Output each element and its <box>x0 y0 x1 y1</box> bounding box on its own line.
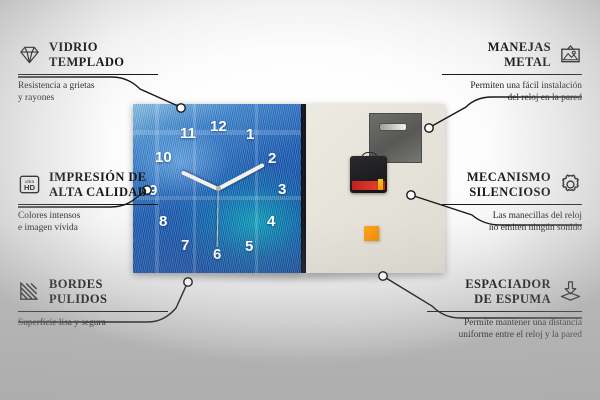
clock-hands-pin <box>216 186 221 191</box>
callout-header: BORDES PULIDOS <box>18 277 168 307</box>
callout-foam-spacer[interactable]: ESPACIADOR DE ESPUMA Permite mantener un… <box>427 277 582 341</box>
clock-back-panel <box>306 104 445 273</box>
clock-numeral: 2 <box>268 151 276 166</box>
hanger-slot <box>379 123 407 131</box>
callout-description: Permite mantener una distancia uniforme … <box>427 317 582 341</box>
clock-numeral: 10 <box>155 150 172 165</box>
callout-rule <box>18 311 168 313</box>
callout-description: Colores intensos e imagen vívida <box>18 210 158 234</box>
callout-header: VIDRIO TEMPLADO <box>18 40 158 70</box>
silent-clock-movement <box>350 156 387 193</box>
diamond-icon <box>18 43 41 66</box>
callout-header: MECANISMO SILENCIOSO <box>442 170 582 200</box>
callout-rule <box>442 204 582 206</box>
ultra-hd-icon: ultra HD <box>18 173 41 196</box>
callout-hd-print[interactable]: ultra HD IMPRESIÓN DE ALTA CALIDAD Color… <box>18 170 158 234</box>
press-down-layer-icon <box>559 280 582 303</box>
clock-numeral: 5 <box>245 239 253 254</box>
art-gridline <box>255 104 258 273</box>
callout-rule <box>18 74 158 76</box>
callout-rule <box>442 74 582 76</box>
callout-description: Resistencia a grietas y rayones <box>18 80 158 104</box>
movement-hook <box>361 152 378 160</box>
callout-header: ESPACIADOR DE ESPUMA <box>427 277 582 307</box>
picture-frame-hook-icon <box>559 43 582 66</box>
clock-numeral: 1 <box>246 127 254 142</box>
callout-title: VIDRIO TEMPLADO <box>49 40 124 70</box>
clock-numeral: 12 <box>210 119 227 134</box>
callout-rule <box>18 204 158 206</box>
product-image: 12 1 2 3 4 5 6 7 8 9 10 11 <box>133 104 445 273</box>
callout-header: MANEJAS METAL <box>442 40 582 70</box>
svg-text:HD: HD <box>24 183 36 192</box>
movement-label <box>352 181 385 190</box>
callout-header: ultra HD IMPRESIÓN DE ALTA CALIDAD <box>18 170 158 200</box>
callout-description: Superficie lisa y segura <box>18 317 168 329</box>
callout-title: MANEJAS METAL <box>488 40 551 70</box>
callout-description: Permiten una fácil instalación del reloj… <box>442 80 582 104</box>
callout-silent-mechanism[interactable]: MECANISMO SILENCIOSO Las manecillas del … <box>442 170 582 234</box>
callout-title: IMPRESIÓN DE ALTA CALIDAD <box>49 170 147 200</box>
clock-numeral: 7 <box>181 238 189 253</box>
clock-front-panel: 12 1 2 3 4 5 6 7 8 9 10 11 <box>133 104 303 273</box>
callout-title: ESPACIADOR DE ESPUMA <box>465 277 551 307</box>
gear-icon <box>559 173 582 196</box>
clock-numeral: 6 <box>213 247 221 262</box>
callout-title: BORDES PULIDOS <box>49 277 107 307</box>
clock-numeral: 11 <box>180 126 196 141</box>
callout-title: MECANISMO SILENCIOSO <box>467 170 551 200</box>
callout-tempered-glass[interactable]: VIDRIO TEMPLADO Resistencia a grietas y … <box>18 40 158 104</box>
foam-spacer <box>364 226 379 241</box>
callout-metal-handles[interactable]: MANEJAS METAL Permiten una fácil instala… <box>442 40 582 104</box>
callout-polished-edges[interactable]: BORDES PULIDOS Superficie lisa y segura <box>18 277 168 329</box>
callout-description: Las manecillas del reloj no emiten ningú… <box>442 210 582 234</box>
clock-numeral: 3 <box>278 182 286 197</box>
infographic-canvas: 12 1 2 3 4 5 6 7 8 9 10 11 <box>0 0 600 400</box>
clock-numeral: 8 <box>159 214 167 229</box>
polished-edge-icon <box>18 280 41 303</box>
callout-rule <box>427 311 582 313</box>
clock-numeral: 4 <box>267 214 275 229</box>
